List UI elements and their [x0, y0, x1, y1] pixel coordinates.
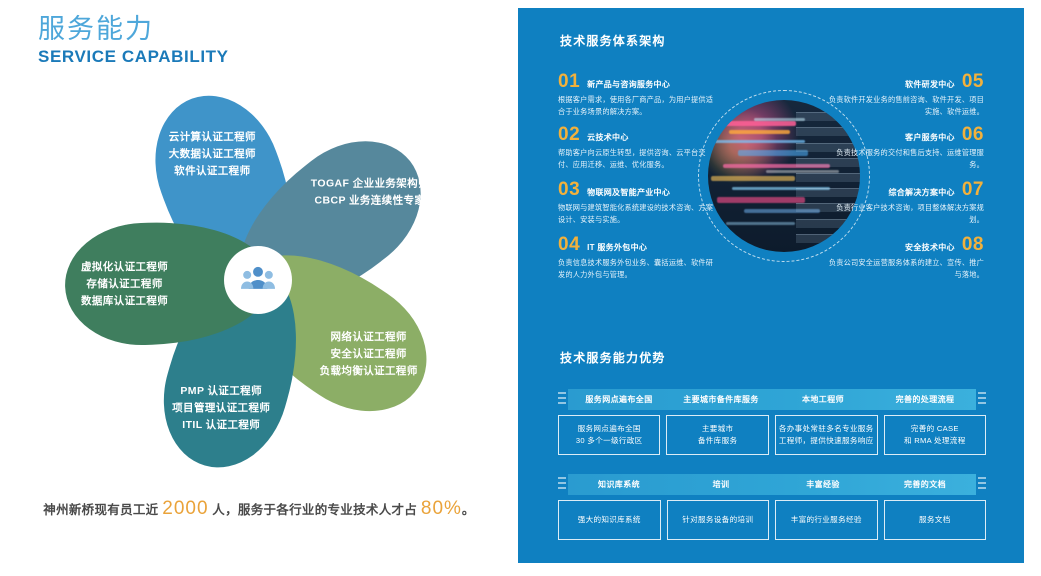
architecture-section-title: 技术服务体系架构 [560, 32, 666, 49]
architecture-item-number: 02 [558, 125, 580, 144]
caption-part-3: 。 [462, 503, 475, 517]
architecture-item-description: 负责技术服务的交付和售后支持、运维管理服务。 [824, 147, 984, 171]
advantage-header-cell: 主要城市备件库服务 [670, 389, 772, 410]
advantage-cell[interactable]: 完善的 CASE和 RMA 处理流程 [884, 415, 986, 455]
advantage-header-bar: 知识库系统培训丰富经验完善的文档 [568, 474, 976, 495]
advantage-cell[interactable]: 服务文档 [884, 500, 987, 540]
advantage-cell[interactable]: 各办事处常驻多名专业服务工程师，提供快速服务响应 [775, 415, 878, 455]
architecture-item[interactable]: 02云技术中心帮助客户向云原生转型，提供咨询、云平台交付、应用迁移、运维、优化服… [558, 125, 718, 171]
architecture-item-description: 负责公司安全运营服务体系的建立、宣传、推广与落地。 [824, 257, 984, 281]
left-panel: 服务能力 SERVICE CAPABILITY 云计算认证工程师大数据认证工程师… [0, 0, 518, 576]
architecture-item[interactable]: 04IT 服务外包中心负责信息技术服务外包业务、囊括运维、软件研发的人力外包与管… [558, 235, 718, 281]
architecture-item-description: 物联网与建筑智能化系统建设的技术咨询、方案设计、安装与实施。 [558, 202, 718, 226]
advantage-header-cell: 完善的文档 [874, 474, 976, 495]
architecture-item[interactable]: 客户服务中心06负责技术服务的交付和售后支持、运维管理服务。 [824, 125, 984, 171]
advantage-header-cell: 完善的处理流程 [874, 389, 976, 410]
architecture-item-number: 06 [962, 125, 984, 144]
architecture-item-name: 软件研发中心 [905, 80, 955, 90]
advantage-cell[interactable]: 服务网点遍布全国30 多个一级行政区 [558, 415, 660, 455]
architecture-item-description: 负责行业客户技术咨询，项目整体解决方案规划。 [824, 202, 984, 226]
architecture-item-name: IT 服务外包中心 [587, 243, 647, 253]
caption-part-1: 神州新桥现有员工近 [43, 503, 162, 517]
flower-petal-label: TOGAF 企业业务架构师CBCP 业务连续性专家 [275, 176, 465, 210]
architecture-item-name: 综合解决方案中心 [888, 188, 954, 198]
architecture-item-name: 客户服务中心 [905, 133, 955, 143]
flower-petal-label: 虚拟化认证工程师存储认证工程师数据库认证工程师 [30, 259, 220, 310]
advantage-header-cell: 丰富经验 [772, 474, 874, 495]
architecture-item-number: 08 [962, 235, 984, 254]
advantage-header-cell: 本地工程师 [772, 389, 874, 410]
architecture-item-number: 01 [558, 72, 580, 91]
architecture-item[interactable]: 综合解决方案中心07负责行业客户技术咨询，项目整体解决方案规划。 [824, 180, 984, 226]
advantage-section-title: 技术服务能力优势 [560, 349, 666, 366]
architecture-item-number: 07 [962, 180, 984, 199]
flower-petal-label: PMP 认证工程师项目管理认证工程师ITIL 认证工程师 [126, 383, 316, 434]
advantage-header-cell: 知识库系统 [568, 474, 670, 495]
architecture-item-description: 负责软件开发业务的售前咨询、软件开发、项目实施、软件运维。 [824, 94, 984, 118]
advantage-cell[interactable]: 强大的知识库系统 [558, 500, 661, 540]
architecture-item-description: 负责信息技术服务外包业务、囊括运维、软件研发的人力外包与管理。 [558, 257, 718, 281]
architecture-item-name: 新产品与咨询服务中心 [587, 80, 670, 90]
slide-root: 服务能力 SERVICE CAPABILITY 云计算认证工程师大数据认证工程师… [0, 0, 1041, 576]
page-title: 服务能力 SERVICE CAPABILITY [38, 14, 229, 67]
architecture-item-number: 05 [962, 72, 984, 91]
architecture-item-description: 根据客户需求，使用各厂商产品，为用户提供适合于业务场景的解决方案。 [558, 94, 718, 118]
flower-petal-label: 云计算认证工程师大数据认证工程师软件认证工程师 [117, 129, 307, 180]
caption-part-2: 人，服务于各行业的专业技术人才占 [209, 503, 421, 517]
architecture-item[interactable]: 01新产品与咨询服务中心根据客户需求，使用各厂商产品，为用户提供适合于业务场景的… [558, 72, 718, 118]
right-blue-panel: 技术服务体系架构 01新产品与咨询服务中心根据客户需求，使用各厂商产品，为用户提… [518, 8, 1024, 563]
flower-center-hub [224, 246, 292, 314]
caption-number-employees: 2000 [162, 498, 208, 519]
capability-flower-diagram: 云计算认证工程师大数据认证工程师软件认证工程师 TOGAF 企业业务架构师CBC… [28, 80, 488, 480]
architecture-item[interactable]: 软件研发中心05负责软件开发业务的售前咨询、软件开发、项目实施、软件运维。 [824, 72, 984, 118]
architecture-item-number: 03 [558, 180, 580, 199]
advantage-cell[interactable]: 针对服务设备的培训 [667, 500, 770, 540]
architecture-item[interactable]: 安全技术中心08负责公司安全运营服务体系的建立、宣传、推广与落地。 [824, 235, 984, 281]
architecture-item-name: 云技术中心 [587, 133, 629, 143]
advantage-row: 服务网点遍布全国30 多个一级行政区主要城市备件库服务各办事处常驻多名专业服务工… [558, 415, 986, 455]
advantage-cell[interactable]: 主要城市备件库服务 [666, 415, 768, 455]
flower-petal-label: 网络认证工程师安全认证工程师负载均衡认证工程师 [274, 329, 464, 380]
caption-number-percent: 80% [421, 498, 462, 519]
title-chinese: 服务能力 [38, 14, 229, 45]
architecture-item-name: 安全技术中心 [905, 243, 955, 253]
architecture-item-description: 帮助客户向云原生转型，提供咨询、云平台交付、应用迁移、运维、优化服务。 [558, 147, 718, 171]
statistics-caption: 神州新桥现有员工近 2000 人，服务于各行业的专业技术人才占 80%。 [0, 498, 518, 520]
data-center-photo [708, 100, 860, 252]
title-english: SERVICE CAPABILITY [38, 47, 229, 67]
architecture-item-number: 04 [558, 235, 580, 254]
advantage-table: 知识库系统培训丰富经验完善的文档强大的知识库系统针对服务设备的培训丰富的行业服务… [558, 474, 986, 540]
advantage-cell[interactable]: 丰富的行业服务经验 [775, 500, 878, 540]
advantage-header-bar: 服务网点遍布全国主要城市备件库服务本地工程师完善的处理流程 [568, 389, 976, 410]
advantage-table: 服务网点遍布全国主要城市备件库服务本地工程师完善的处理流程服务网点遍布全国30 … [558, 389, 986, 455]
architecture-item-name: 物联网及智能产业中心 [587, 188, 670, 198]
architecture-item[interactable]: 03物联网及智能产业中心物联网与建筑智能化系统建设的技术咨询、方案设计、安装与实… [558, 180, 718, 226]
advantage-row: 强大的知识库系统针对服务设备的培训丰富的行业服务经验服务文档 [558, 500, 986, 540]
advantage-header-cell: 服务网点遍布全国 [568, 389, 670, 410]
people-group-icon [241, 265, 275, 296]
advantage-header-cell: 培训 [670, 474, 772, 495]
